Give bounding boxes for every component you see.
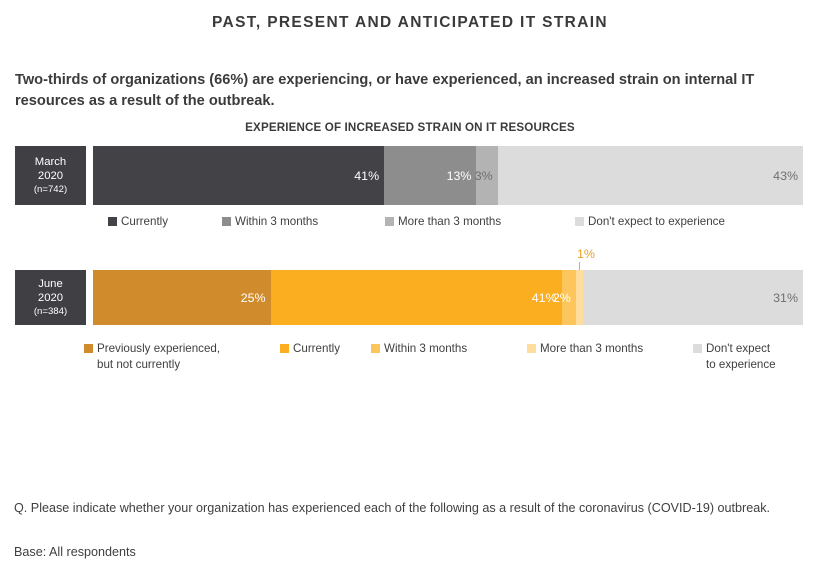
legend-swatch-icon: [84, 344, 93, 353]
bar-segment-value: 13%: [447, 169, 472, 183]
legend-item[interactable]: Within 3 months: [222, 214, 318, 230]
legend-label: Currently: [121, 214, 168, 230]
bar-segment-value: 25%: [241, 291, 266, 305]
legend-swatch-icon: [575, 217, 584, 226]
bar-segment-value: 3%: [475, 169, 493, 183]
legend-label: More than 3 months: [398, 214, 501, 230]
footnote-question: Q. Please indicate whether your organiza…: [14, 498, 804, 518]
legend-item[interactable]: Within 3 months: [371, 341, 467, 357]
bar-segment-more-than-3-months[interactable]: 3%: [476, 146, 497, 205]
legend-item[interactable]: Currently: [280, 341, 340, 357]
chart-subtitle: EXPERIENCE OF INCREASED STRAIN ON IT RES…: [0, 121, 820, 134]
legend-swatch-icon: [371, 344, 380, 353]
legend-label: Within 3 months: [235, 214, 318, 230]
row-label-march-2020: March 2020 (n=742): [15, 146, 86, 205]
legend-item[interactable]: Previously experienced, but not currentl…: [84, 341, 220, 373]
legend-swatch-icon: [527, 344, 536, 353]
bar-segment-within-3-months[interactable]: 13%: [384, 146, 476, 205]
legend-swatch-icon: [108, 217, 117, 226]
legend-swatch-icon: [693, 344, 702, 353]
legend-item[interactable]: More than 3 months: [527, 341, 643, 357]
bar-segment-value: 31%: [773, 291, 798, 305]
row-label-line1: March: [35, 155, 66, 169]
bar-segment-previously-experienced[interactable]: 25%: [93, 270, 271, 325]
bar-segment-value: 41%: [354, 169, 379, 183]
footnote-base: Base: All respondents: [14, 545, 804, 559]
legend-item[interactable]: Don't expect to experience: [693, 341, 776, 373]
legend-label: Don't expect to experience: [706, 341, 776, 373]
callout-leader-line: [579, 262, 580, 270]
stacked-bar-march-2020: 41% 13% 3% 43%: [93, 146, 803, 205]
legend-item[interactable]: Currently: [108, 214, 168, 230]
bar-segment-currently[interactable]: 41%: [93, 146, 384, 205]
stacked-bar-june-2020: 25% 41% 2% 1% 31%: [93, 270, 803, 325]
row-label-line2: 2020: [38, 169, 63, 183]
bar-segment-currently[interactable]: 41%: [271, 270, 562, 325]
legend-label: Don't expect to experience: [588, 214, 725, 230]
row-label-base: (n=384): [34, 305, 67, 318]
bar-segment-value: 2%: [553, 291, 571, 305]
legend-swatch-icon: [222, 217, 231, 226]
bar-segment-more-than-3-months[interactable]: 1%: [576, 270, 583, 325]
legend-item[interactable]: Don't expect to experience: [575, 214, 725, 230]
bar-segment-dont-expect[interactable]: 43%: [498, 146, 803, 205]
legend-item[interactable]: More than 3 months: [385, 214, 501, 230]
row-label-june-2020: June 2020 (n=384): [15, 270, 86, 325]
legend-march-2020: Currently Within 3 months More than 3 mo…: [0, 214, 820, 254]
legend-swatch-icon: [280, 344, 289, 353]
legend-label: Previously experienced, but not currentl…: [97, 341, 220, 373]
row-label-line1: June: [38, 277, 63, 291]
legend-label: Currently: [293, 341, 340, 357]
bar-segment-within-3-months[interactable]: 2%: [562, 270, 576, 325]
page-title: PAST, PRESENT AND ANTICIPATED IT STRAIN: [0, 14, 820, 32]
row-label-base: (n=742): [34, 183, 67, 196]
bar-segment-value: 43%: [773, 169, 798, 183]
legend-label: More than 3 months: [540, 341, 643, 357]
headline-text: Two-thirds of organizations (66%) are ex…: [15, 70, 805, 112]
row-label-line2: 2020: [38, 291, 63, 305]
legend-june-2020: Previously experienced, but not currentl…: [0, 341, 820, 381]
bar-segment-dont-expect[interactable]: 31%: [583, 270, 803, 325]
legend-swatch-icon: [385, 217, 394, 226]
bar-segment-value: 1%: [577, 247, 595, 261]
legend-label: Within 3 months: [384, 341, 467, 357]
